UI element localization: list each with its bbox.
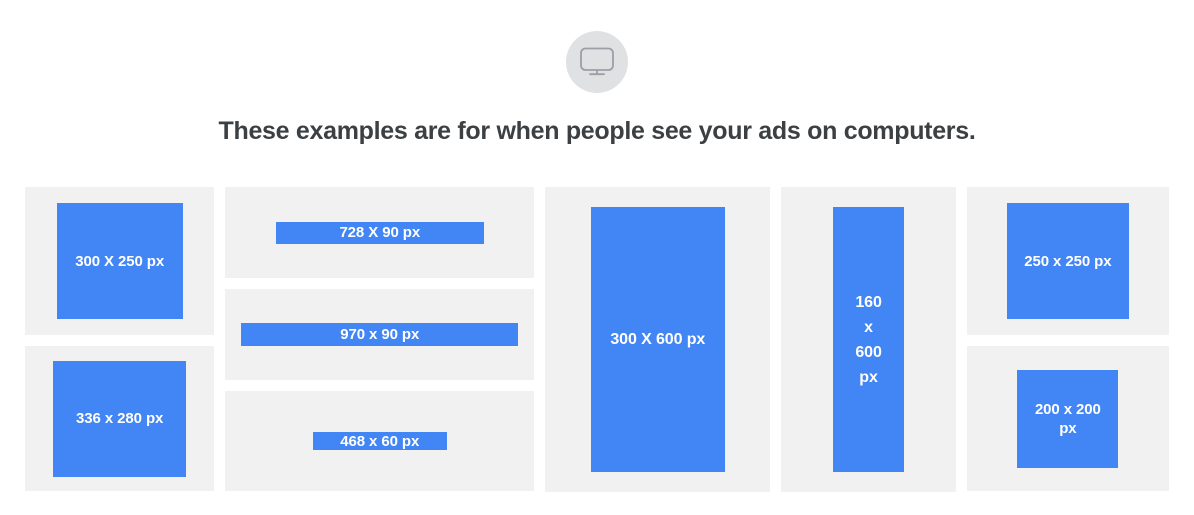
ad-panel-728x90: 728 X 90 px xyxy=(225,187,534,278)
ad-panel-468x60: 468 x 60 px xyxy=(225,391,534,491)
ad-panel-160x600: 160 x 600 px xyxy=(781,187,955,492)
column-b: 728 X 90 px 970 x 90 px 468 x 60 px xyxy=(225,187,534,491)
desktop-monitor-icon xyxy=(566,31,628,93)
column-d: 160 x 600 px xyxy=(781,187,955,492)
ad-block-300x600: 300 X 600 px xyxy=(591,207,725,472)
column-a: 300 X 250 px 336 x 280 px xyxy=(25,187,214,491)
ad-panel-970x90: 970 x 90 px xyxy=(225,289,534,380)
ad-block-200x200: 200 x 200 px xyxy=(1017,370,1118,468)
ad-size-grid: 300 X 250 px 336 x 280 px 728 X 90 px 97… xyxy=(25,187,1169,492)
ad-panel-336x280: 336 x 280 px xyxy=(25,346,214,491)
page-header: These examples are for when people see y… xyxy=(0,0,1194,146)
ad-block-970x90: 970 x 90 px xyxy=(241,323,518,346)
ad-panel-300x600: 300 X 600 px xyxy=(545,187,770,492)
ad-panel-250x250: 250 x 250 px xyxy=(967,187,1169,335)
ad-block-728x90: 728 X 90 px xyxy=(276,222,484,244)
ad-block-468x60: 468 x 60 px xyxy=(313,432,447,450)
ad-sizes-page: These examples are for when people see y… xyxy=(0,0,1194,515)
ad-panel-200x200: 200 x 200 px xyxy=(967,346,1169,491)
ad-block-300x250: 300 X 250 px xyxy=(57,203,183,319)
column-e: 250 x 250 px 200 x 200 px xyxy=(967,187,1169,491)
ad-panel-300x250: 300 X 250 px xyxy=(25,187,214,335)
ad-block-250x250: 250 x 250 px xyxy=(1007,203,1129,319)
ad-block-160x600: 160 x 600 px xyxy=(833,207,904,472)
column-c: 300 X 600 px xyxy=(545,187,770,492)
page-title: These examples are for when people see y… xyxy=(0,93,1194,146)
ad-block-336x280: 336 x 280 px xyxy=(53,361,186,477)
